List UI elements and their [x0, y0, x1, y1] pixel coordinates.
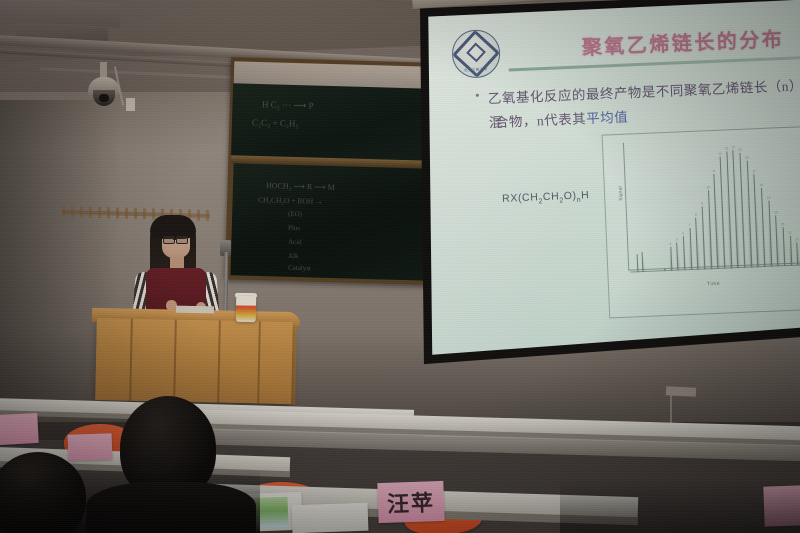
eyeglasses-icon — [163, 236, 189, 242]
drink-cup — [236, 296, 256, 322]
camera-glass — [99, 94, 109, 102]
name-card — [68, 433, 113, 461]
camera-junction-box — [126, 98, 135, 111]
blackboard-lower-panel — [230, 163, 431, 280]
projection-screen — [418, 0, 800, 392]
lectern-papers — [176, 306, 214, 314]
lectern-body — [95, 318, 293, 404]
ceiling-strip — [196, 0, 436, 6]
foreground-shadow-right — [560, 478, 800, 533]
lecture-hall-photo: H C₂ ⋯ ⟶ P C₂C₂ + C₂H₅ HOCH₂ ⟶ R ⟶ M CH₂… — [0, 0, 800, 533]
screen-surface — [418, 0, 800, 366]
blackboard-upper-panel — [231, 83, 431, 162]
presenter-neck — [170, 256, 184, 268]
open-notebook-right — [292, 503, 369, 533]
name-card: 汪苹 — [377, 481, 444, 523]
name-card — [0, 413, 39, 445]
foreground-shadow — [0, 470, 260, 533]
